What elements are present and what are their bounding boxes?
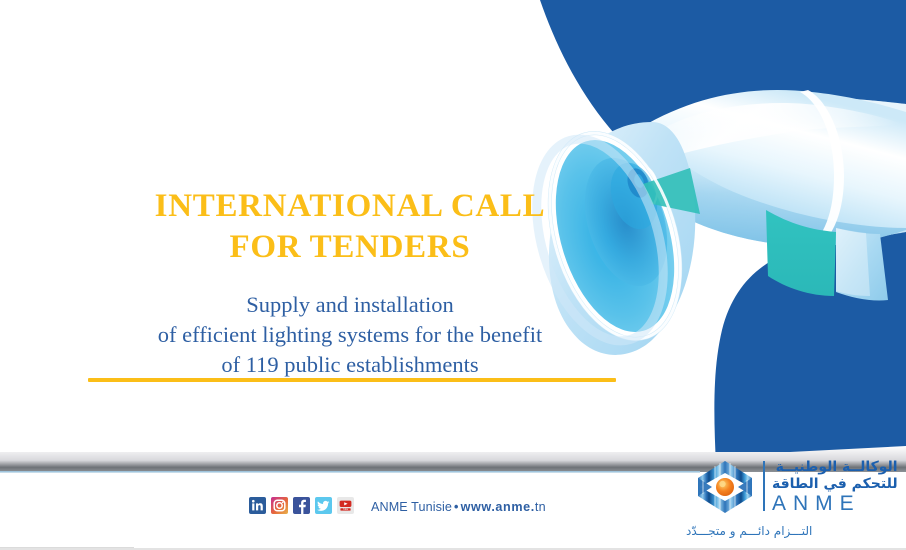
linkedin-icon[interactable] [249, 497, 266, 514]
social-links[interactable]: Tube [249, 497, 354, 514]
anme-wordmark: الوكالــة الوطنيــة للتحكم في الطاقة ANM… [772, 459, 898, 515]
anme-arabic-line-2: للتحكم في الطاقة [772, 476, 898, 493]
footer-org-name: ANME Tunisie [371, 500, 452, 514]
bottom-left-hairline [0, 547, 134, 548]
footer-bullet: • [452, 500, 461, 514]
facebook-icon[interactable] [293, 497, 310, 514]
twitter-icon[interactable] [315, 497, 332, 514]
anme-tagline: التـــزام دائـــم و متجـــدّد [686, 524, 812, 538]
logo-divider [763, 461, 765, 511]
poster-canvas: INTERNATIONAL CALL FOR TENDERS Supply an… [0, 0, 906, 550]
subtitle-line-1: Supply and installation [0, 290, 700, 320]
youtube-icon[interactable]: Tube [337, 497, 354, 514]
footer-website[interactable]: www.anme. [461, 500, 535, 514]
subtitle-line-3: of 119 public establishments [0, 350, 700, 380]
headline-block: INTERNATIONAL CALL FOR TENDERS Supply an… [0, 186, 700, 380]
subtitle: Supply and installation of efficient lig… [0, 268, 700, 380]
headline-line-2: FOR TENDERS [0, 227, 700, 268]
anme-logo: الوكالــة الوطنيــة للتحكم في الطاقة ANM… [694, 458, 898, 516]
page-title: INTERNATIONAL CALL FOR TENDERS [0, 186, 700, 268]
anme-mark-icon [694, 458, 756, 516]
svg-text:Tube: Tube [343, 509, 349, 511]
divider-line [88, 378, 616, 382]
footer-contact: ANME Tunisie•www.anme.tn [371, 500, 546, 514]
headline-line-1: INTERNATIONAL CALL [0, 186, 700, 227]
yellow-divider [88, 378, 616, 382]
anme-arabic-line-1: الوكالــة الوطنيــة [772, 459, 898, 476]
anme-acronym: ANME [772, 493, 898, 515]
instagram-icon[interactable] [271, 497, 288, 514]
footer-website-tld[interactable]: tn [535, 500, 546, 514]
subtitle-line-2: of efficient lighting systems for the be… [0, 320, 700, 350]
